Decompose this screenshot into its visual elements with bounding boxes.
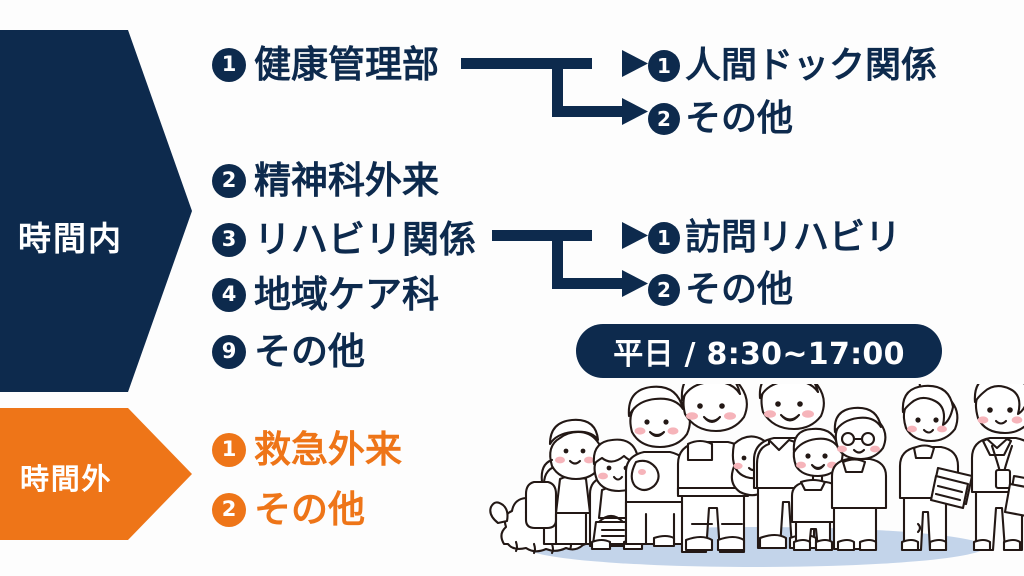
branch-item-label: 訪問リハビリ <box>685 220 901 256</box>
figure-elderly-woman-with-glasses <box>832 408 886 550</box>
list-item-chiiki-care-ka[interactable]: 4 地域ケア科 <box>212 276 439 313</box>
band-after-hours: 時間外 <box>0 408 192 540</box>
branch-item-label: その他 <box>685 101 793 137</box>
bullet-number: 1 <box>648 50 680 82</box>
list-item-label: その他 <box>254 491 365 528</box>
list-item-label: 救急外来 <box>254 431 402 468</box>
bullet-number: 9 <box>212 335 246 369</box>
people-illustration: .ln{fill:none;stroke:#231815;stroke-widt… <box>486 384 1024 576</box>
list-item-label: 地域ケア科 <box>254 276 439 313</box>
list-item-kenko-kanri-bu[interactable]: 1 健康管理部 <box>212 46 439 83</box>
figure-nurse-with-clipboard <box>900 384 972 550</box>
list-item-label: 精神科外来 <box>254 162 439 199</box>
list-item-label: その他 <box>254 333 365 370</box>
branch-item-label: 人間ドック関係 <box>685 48 937 84</box>
bullet-number: 3 <box>212 223 246 257</box>
branch-item-label: その他 <box>685 272 793 308</box>
list-item-kyukyu-gairai[interactable]: 1 救急外来 <box>212 431 402 468</box>
bullet-number: 2 <box>212 164 246 198</box>
bullet-number: 2 <box>648 274 680 306</box>
band-in-hours: 時間内 <box>0 30 192 392</box>
branch-item-houmon-rehabiri[interactable]: 1 訪問リハビリ <box>648 220 901 256</box>
slide-canvas: 時間内 時間外 1 健康管理部 2 精神科外来 3 リハビリ関 <box>0 0 1024 576</box>
list-item-label: リハビリ関係 <box>254 221 476 258</box>
list-item-label: 健康管理部 <box>254 46 439 83</box>
connector-kenko <box>461 50 648 125</box>
band-after-hours-label: 時間外 <box>20 456 112 498</box>
connector-rehab <box>492 222 648 297</box>
bullet-number: 4 <box>212 278 246 312</box>
bullet-number: 1 <box>648 222 680 254</box>
band-in-hours-label: 時間内 <box>18 212 123 260</box>
figure-medical-staff <box>972 384 1024 550</box>
branch-item-ningen-dock[interactable]: 1 人間ドック関係 <box>648 48 937 84</box>
list-item-sonota-9[interactable]: 9 その他 <box>212 333 365 370</box>
bullet-number: 1 <box>212 433 246 467</box>
hours-badge: 平日 / 8:30~17:00 <box>576 324 942 378</box>
list-item-seishinka-gairai[interactable]: 2 精神科外来 <box>212 162 439 199</box>
bullet-number: 2 <box>648 103 680 135</box>
hours-badge-text: 平日 / 8:30~17:00 <box>613 329 905 373</box>
bullet-number: 2 <box>212 493 246 527</box>
list-item-rehabiri-kankei[interactable]: 3 リハビリ関係 <box>212 221 476 258</box>
branch-item-sonota-rehabiri[interactable]: 2 その他 <box>648 272 793 308</box>
branch-item-sonota-kenko[interactable]: 2 その他 <box>648 101 793 137</box>
list-item-sonota-kyukyu[interactable]: 2 その他 <box>212 491 365 528</box>
bullet-number: 1 <box>212 48 246 82</box>
